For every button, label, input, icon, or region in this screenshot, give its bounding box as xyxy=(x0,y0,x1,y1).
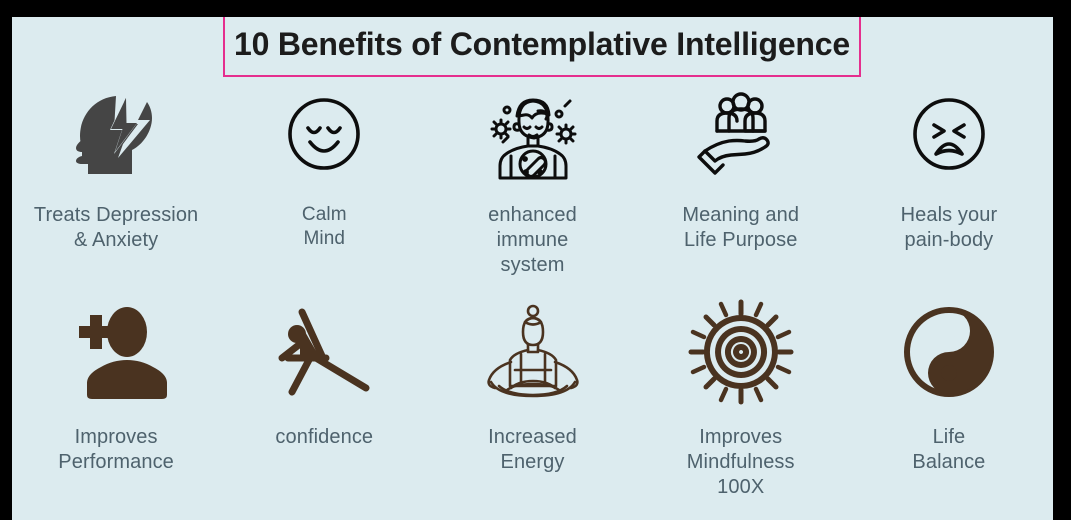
benefit-card-confidence[interactable]: confidence xyxy=(220,293,428,501)
benefit-card-heals-pain-body[interactable]: Heals your pain-body xyxy=(845,79,1053,279)
benefit-label: Calm Mind xyxy=(302,203,347,251)
calm-face-icon xyxy=(282,79,366,189)
benefits-row-bottom: Improves Performance xyxy=(12,293,1053,501)
benefit-card-treats-depression[interactable]: Treats Depression & Anxiety xyxy=(12,79,220,279)
immune-person-icon xyxy=(483,79,583,189)
benefit-label: enhanced immune system xyxy=(488,203,577,279)
benefit-label: Improves Mindfulness 100X xyxy=(687,425,795,501)
benefits-row-top: Treats Depression & Anxiety Calm Mind xyxy=(12,79,1053,279)
add-person-icon xyxy=(63,293,169,411)
benefit-card-increased-energy[interactable]: Increased Energy xyxy=(428,293,636,501)
lotus-meditation-icon xyxy=(481,293,585,411)
benefit-label: Meaning and Life Purpose xyxy=(682,203,799,253)
benefit-label: confidence xyxy=(275,425,373,450)
page-title: 10 Benefits of Contemplative Intelligenc… xyxy=(234,26,850,63)
hand-holding-people-icon xyxy=(691,79,791,189)
title-banner: 10 Benefits of Contemplative Intelligenc… xyxy=(223,17,861,77)
infographic-poster: 10 Benefits of Contemplative Intelligenc… xyxy=(12,17,1053,520)
benefit-label: Improves Performance xyxy=(58,425,174,475)
benefit-label: Life Balance xyxy=(912,425,985,475)
benefit-card-improves-performance[interactable]: Improves Performance xyxy=(12,293,220,501)
benefit-label: Increased Energy xyxy=(488,425,577,475)
spiral-sun-icon xyxy=(687,293,795,411)
benefit-card-calm-mind[interactable]: Calm Mind xyxy=(220,79,428,279)
benefit-label: Heals your pain-body xyxy=(901,203,998,253)
head-lightning-icon xyxy=(64,79,168,189)
benefit-card-improves-mindfulness[interactable]: Improves Mindfulness 100X xyxy=(637,293,845,501)
benefit-label: Treats Depression & Anxiety xyxy=(34,203,198,253)
yoga-triangle-pose-icon xyxy=(270,293,378,411)
benefit-card-immune-system[interactable]: enhanced immune system xyxy=(428,79,636,279)
benefit-card-meaning-purpose[interactable]: Meaning and Life Purpose xyxy=(637,79,845,279)
distressed-face-icon xyxy=(907,79,991,189)
yin-yang-icon xyxy=(899,293,999,411)
benefit-card-life-balance[interactable]: Life Balance xyxy=(845,293,1053,501)
